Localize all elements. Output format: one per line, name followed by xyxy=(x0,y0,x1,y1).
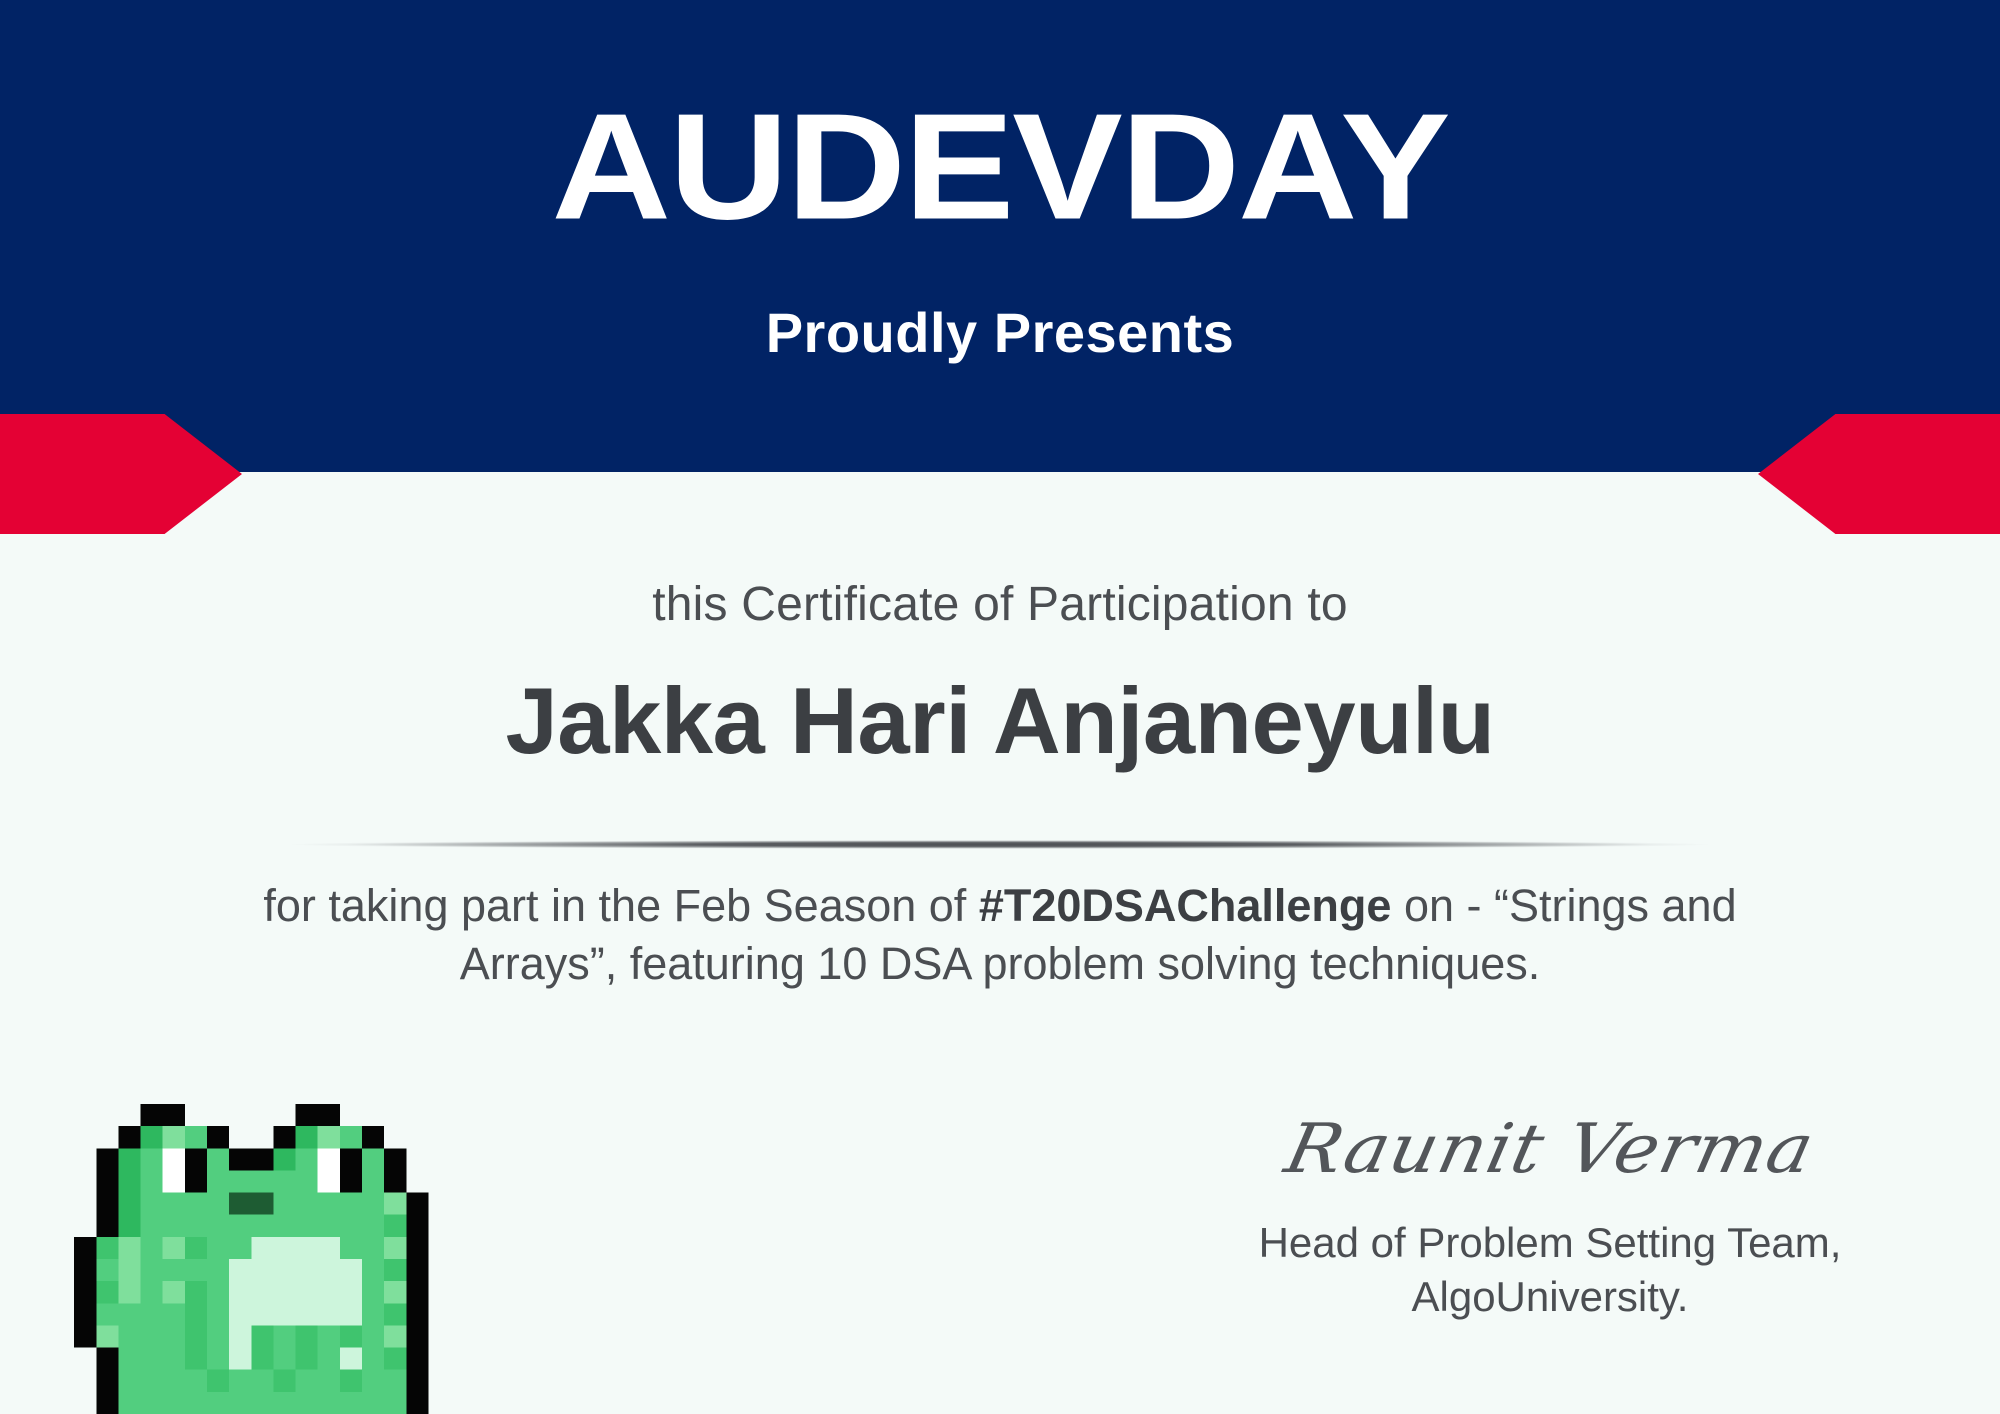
signature-title-line-2: AlgoUniversity. xyxy=(1230,1270,1870,1324)
signature-title: Head of Problem Setting Team, AlgoUniver… xyxy=(1230,1216,1870,1324)
signature-title-line-1: Head of Problem Setting Team, xyxy=(1230,1216,1870,1270)
body-prefix: for taking part in the Feb Season of xyxy=(263,880,978,931)
certificate-canvas: AUDEVDAY Proudly Presents this Certifica… xyxy=(0,0,2000,1414)
brand-tagline: Proudly Presents xyxy=(0,305,2000,361)
signature-block: Raunit Verma Head of Problem Setting Tea… xyxy=(1230,1112,1870,1324)
name-divider xyxy=(288,840,1712,849)
pixel-frog-icon xyxy=(52,1104,452,1414)
signature-script: Raunit Verma xyxy=(1280,1115,1820,1183)
body-paragraph: for taking part in the Feb Season of #T2… xyxy=(250,877,1750,992)
intro-line: this Certificate of Participation to xyxy=(0,577,2000,632)
recipient-name: Jakka Hari Anjaneyulu xyxy=(0,672,2000,771)
body-hashtag: #T20DSAChallenge xyxy=(979,880,1392,931)
brand-wordmark: AUDEVDAY xyxy=(0,92,2000,243)
